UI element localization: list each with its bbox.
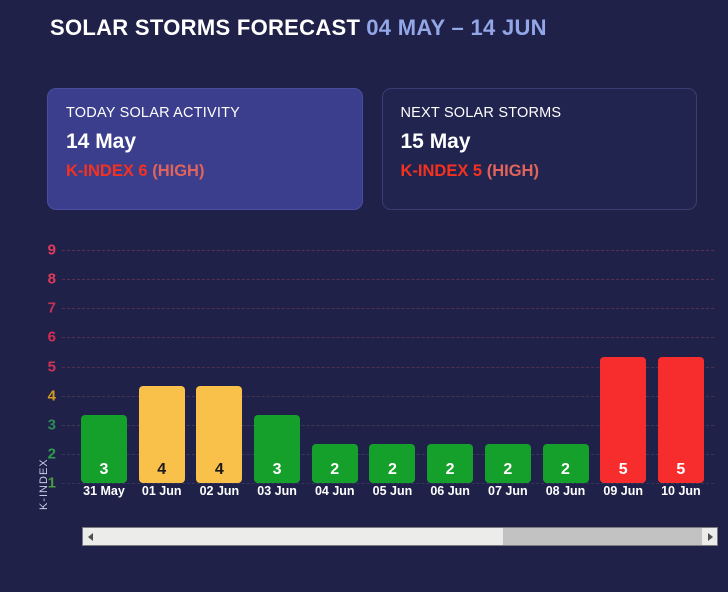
chart-bar-column[interactable]: 4 [196, 223, 242, 492]
chart-bar-column[interactable]: 2 [369, 223, 415, 492]
x-axis-tick: 01 Jun [139, 484, 185, 498]
chart-bar[interactable]: 2 [427, 444, 473, 483]
chart-x-axis: 31 May01 Jun02 Jun03 Jun04 Jun05 Jun06 J… [81, 484, 704, 498]
x-axis-tick: 09 Jun [600, 484, 646, 498]
kindex-bar-chart: 987654321 34432222255 31 May01 Jun02 Jun… [0, 232, 728, 522]
chart-bar-value: 2 [561, 462, 570, 478]
x-axis-tick: 08 Jun [543, 484, 589, 498]
y-axis-tick: 9 [48, 242, 56, 259]
x-axis-tick: 10 Jun [658, 484, 704, 498]
summary-cards: TODAY SOLAR ACTIVITY 14 May K-INDEX 6 (H… [47, 88, 697, 210]
chart-bar-value: 2 [503, 462, 512, 478]
scroll-left-arrow-icon[interactable] [83, 528, 98, 545]
chart-bar-value: 3 [100, 462, 109, 478]
chart-bar-column[interactable]: 2 [427, 223, 473, 492]
chart-bar[interactable]: 2 [543, 444, 589, 483]
scrollbar-thumb[interactable] [503, 528, 702, 545]
y-axis-tick: 7 [48, 300, 56, 317]
chart-bar[interactable]: 4 [139, 386, 185, 483]
chart-bar-value: 2 [330, 462, 339, 478]
x-axis-tick: 05 Jun [369, 484, 415, 498]
chart-bar-value: 5 [676, 462, 685, 478]
y-axis-tick: 4 [48, 387, 56, 404]
chart-bar-value: 2 [446, 462, 455, 478]
card-next-solar-storms[interactable]: NEXT SOLAR STORMS 15 May K-INDEX 5 (HIGH… [382, 88, 698, 210]
solar-storms-forecast-page: SOLAR STORMS FORECAST04 MAY – 14 JUN TOD… [0, 0, 728, 592]
chart-bar-column[interactable]: 2 [543, 223, 589, 492]
card-kindex: K-INDEX 5 (HIGH) [401, 162, 697, 181]
chart-bar-value: 4 [215, 462, 224, 478]
card-kindex: K-INDEX 6 (HIGH) [66, 162, 362, 181]
card-kindex-value: K-INDEX 5 [401, 162, 483, 180]
chart-bar-column[interactable]: 2 [485, 223, 531, 492]
chart-bar[interactable]: 3 [81, 415, 127, 483]
scrollbar-track[interactable] [98, 528, 702, 545]
chart-bar[interactable]: 3 [254, 415, 300, 483]
card-date: 14 May [66, 130, 362, 154]
chart-y-axis-label: K-INDEX [38, 458, 50, 510]
x-axis-tick: 04 Jun [312, 484, 358, 498]
chart-bar-column[interactable]: 5 [658, 223, 704, 492]
chart-bar-column[interactable]: 4 [139, 223, 185, 492]
page-title: SOLAR STORMS FORECAST04 MAY – 14 JUN [50, 15, 547, 41]
y-axis-tick: 5 [48, 358, 56, 375]
chart-bar-value: 5 [619, 462, 628, 478]
y-axis-tick: 3 [48, 416, 56, 433]
chart-y-axis: 987654321 [34, 232, 62, 492]
y-axis-tick: 6 [48, 329, 56, 346]
card-today-solar-activity[interactable]: TODAY SOLAR ACTIVITY 14 May K-INDEX 6 (H… [47, 88, 363, 210]
chart-plot-area: 34432222255 [62, 232, 714, 492]
card-kindex-value: K-INDEX 6 [66, 162, 148, 180]
scroll-right-arrow-icon[interactable] [702, 528, 717, 545]
chart-bar-column[interactable]: 5 [600, 223, 646, 492]
chart-bar[interactable]: 2 [312, 444, 358, 483]
chart-bar-column[interactable]: 2 [312, 223, 358, 492]
chart-bar[interactable]: 4 [196, 386, 242, 483]
card-kindex-severity: (HIGH) [152, 162, 204, 180]
chart-horizontal-scrollbar[interactable] [82, 527, 718, 546]
card-label: TODAY SOLAR ACTIVITY [66, 105, 362, 121]
y-axis-tick: 8 [48, 271, 56, 288]
chart-bars: 34432222255 [81, 232, 704, 492]
chart-bar-column[interactable]: 3 [254, 223, 300, 492]
chart-bar-value: 3 [273, 462, 282, 478]
chart-bar-column[interactable]: 3 [81, 223, 127, 492]
chart-bar[interactable]: 2 [485, 444, 531, 483]
x-axis-tick: 06 Jun [427, 484, 473, 498]
chart-bar[interactable]: 5 [600, 357, 646, 484]
card-date: 15 May [401, 130, 697, 154]
chart-bar[interactable]: 2 [369, 444, 415, 483]
chart-bar-value: 4 [157, 462, 166, 478]
chart-bar[interactable]: 5 [658, 357, 704, 484]
card-kindex-severity: (HIGH) [487, 162, 539, 180]
chart-bar-value: 2 [388, 462, 397, 478]
x-axis-tick: 02 Jun [196, 484, 242, 498]
card-label: NEXT SOLAR STORMS [401, 105, 697, 121]
page-title-date-range: 04 MAY – 14 JUN [366, 15, 547, 40]
x-axis-tick: 07 Jun [485, 484, 531, 498]
page-title-main: SOLAR STORMS FORECAST [50, 15, 360, 40]
x-axis-tick: 03 Jun [254, 484, 300, 498]
x-axis-tick: 31 May [81, 484, 127, 498]
